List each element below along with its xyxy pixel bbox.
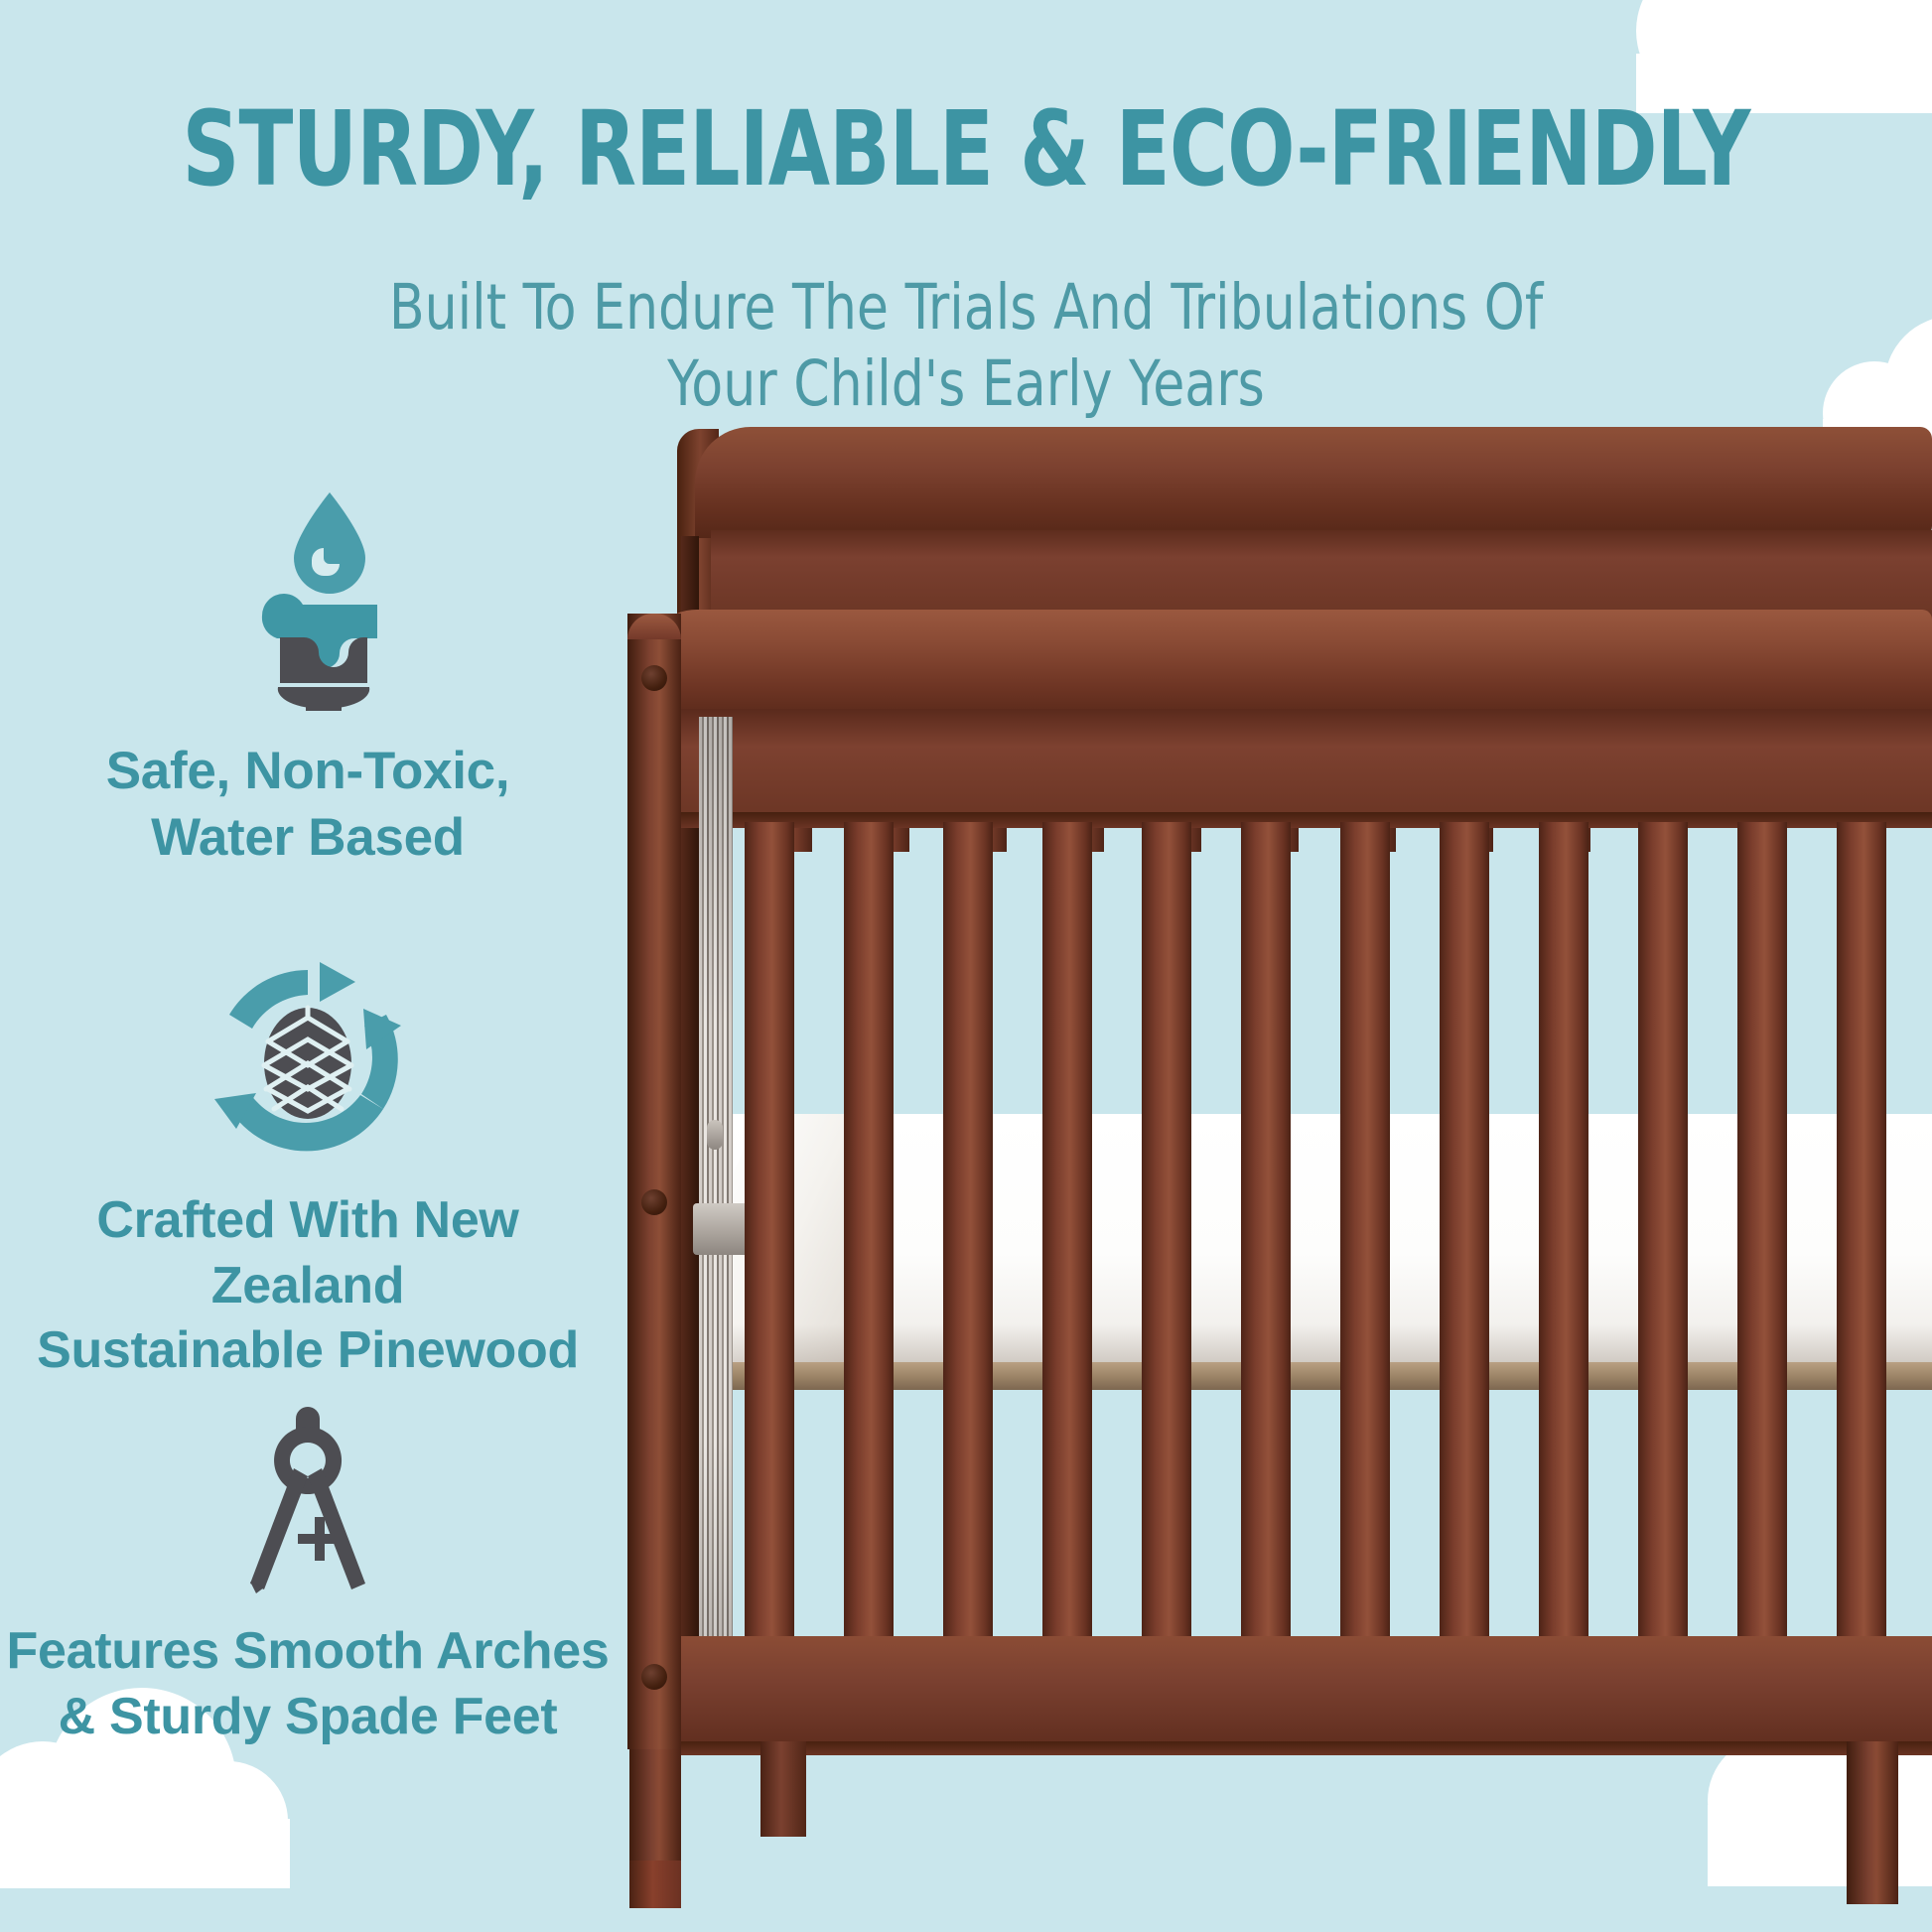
feature-item-safe-non-toxic: Safe, Non-Toxic, Water Based: [0, 486, 616, 872]
front-slat: [745, 822, 794, 1749]
front-slat: [844, 822, 894, 1749]
right-spade-foot: [1847, 1741, 1898, 1904]
recycle-pinecone-icon: [0, 953, 616, 1167]
screw-cap-icon: [641, 1189, 667, 1215]
feature-label: Safe, Non-Toxic, Water Based: [0, 739, 616, 872]
front-top-rail: [643, 610, 1932, 717]
front-slat: [1440, 822, 1489, 1749]
front-slat: [943, 822, 993, 1749]
page-subtitle: Built To Endure The Trials And Tribulati…: [327, 270, 1605, 423]
screw-cap-icon: [641, 665, 667, 691]
front-corner-post: [627, 614, 681, 1749]
screw-cap-icon: [641, 1664, 667, 1690]
front-bottom-rail-edge: [655, 1741, 1932, 1755]
front-slat: [1042, 822, 1092, 1749]
spring-bracket: [693, 1203, 749, 1255]
front-slat: [1638, 822, 1688, 1749]
feature-item-smooth-arches: Features Smooth Arches & Sturdy Spade Fe…: [0, 1400, 616, 1749]
front-rail-board: [655, 709, 1932, 816]
drafting-compass-icon: [0, 1400, 616, 1593]
cloud-top-right-icon: [1636, 0, 1932, 83]
front-slat: [1142, 822, 1191, 1749]
feature-item-sustainable-pinewood: Crafted With New Zealand Sustainable Pin…: [0, 953, 616, 1384]
spring-adjust-pin: [707, 1120, 723, 1150]
front-slat: [1837, 822, 1886, 1749]
front-slat: [1241, 822, 1291, 1749]
left-spade-foot-tip: [629, 1861, 681, 1908]
page-title: STURDY, RELIABLE & ECO-FRIENDLY: [135, 95, 1797, 204]
front-slat: [1539, 822, 1588, 1749]
front-slat: [1737, 822, 1787, 1749]
headboard-top-rail: [695, 427, 1932, 538]
feature-label: Features Smooth Arches & Sturdy Spade Fe…: [0, 1619, 616, 1749]
headboard-panel-board: [711, 530, 1932, 621]
inner-leg: [760, 1741, 806, 1837]
front-slat: [1340, 822, 1390, 1749]
product-image-convertible-crib: [608, 419, 1932, 1908]
infographic-canvas: STURDY, RELIABLE & ECO-FRIENDLY Built To…: [0, 0, 1932, 1932]
feature-label: Crafted With New Zealand Sustainable Pin…: [0, 1188, 616, 1384]
front-bottom-rail: [655, 1636, 1932, 1749]
paint-brush-water-drop-icon: [0, 486, 616, 715]
